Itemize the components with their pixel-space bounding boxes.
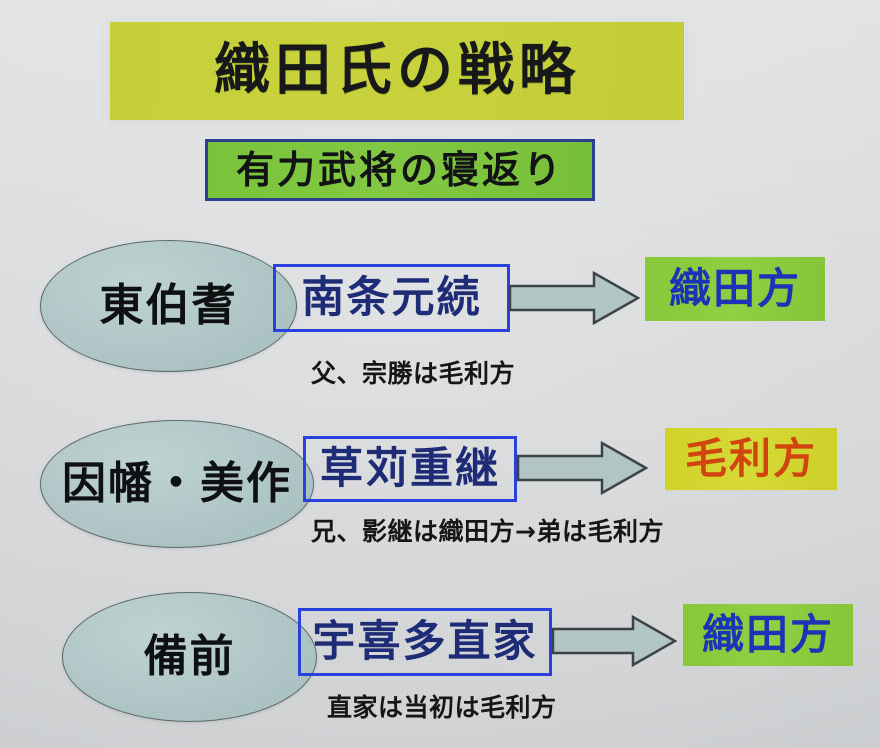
slide-subtitle-box: 有力武将の寝返り — [205, 139, 595, 201]
person-box-3: 宇喜多直家 — [298, 608, 552, 676]
person-box-1: 南条元続 — [273, 264, 510, 332]
region-label-3: 備前 — [144, 635, 236, 679]
region-ellipse-2: 因幡・美作 — [40, 420, 314, 548]
region-label-2: 因幡・美作 — [62, 462, 292, 506]
region-label-1: 東伯耆 — [100, 284, 238, 328]
slide-subtitle: 有力武将の寝返り — [236, 151, 564, 189]
region-ellipse-1: 東伯耆 — [40, 240, 297, 372]
person-box-2: 草苅重継 — [303, 436, 517, 502]
slide-canvas: 織田氏の戦略 有力武将の寝返り 東伯耆 南条元続 織田方 父、宗勝は毛利方 因幡… — [0, 0, 880, 748]
defection-row-1: 東伯耆 南条元続 織田方 父、宗勝は毛利方 — [0, 232, 880, 400]
arrow-right-icon-3 — [551, 614, 677, 668]
side-label-2: 毛利方 — [685, 438, 817, 480]
side-label-3: 織田方 — [702, 614, 834, 656]
slide-title-band: 織田氏の戦略 — [110, 22, 684, 120]
side-badge-2: 毛利方 — [665, 428, 837, 490]
person-name-3: 宇喜多直家 — [313, 621, 538, 664]
defection-row-3: 備前 宇喜多直家 織田方 直家は当初は毛利方 — [0, 568, 880, 748]
person-name-1: 南条元続 — [302, 277, 482, 320]
person-name-2: 草苅重継 — [320, 448, 500, 491]
row-note-1: 父、宗勝は毛利方 — [311, 361, 515, 386]
side-badge-1: 織田方 — [645, 257, 825, 321]
region-ellipse-3: 備前 — [62, 592, 317, 722]
row-note-3: 直家は当初は毛利方 — [327, 695, 557, 720]
side-badge-3: 織田方 — [683, 604, 853, 666]
row-note-2: 兄、影継は織田方→弟は毛利方 — [311, 519, 664, 544]
arrow-right-icon-2 — [516, 440, 648, 496]
side-label-1: 織田方 — [669, 268, 801, 310]
defection-row-2: 因幡・美作 草苅重継 毛利方 兄、影継は織田方→弟は毛利方 — [0, 400, 880, 568]
arrow-right-icon-1 — [508, 270, 640, 326]
slide-title: 織田氏の戦略 — [214, 43, 580, 99]
